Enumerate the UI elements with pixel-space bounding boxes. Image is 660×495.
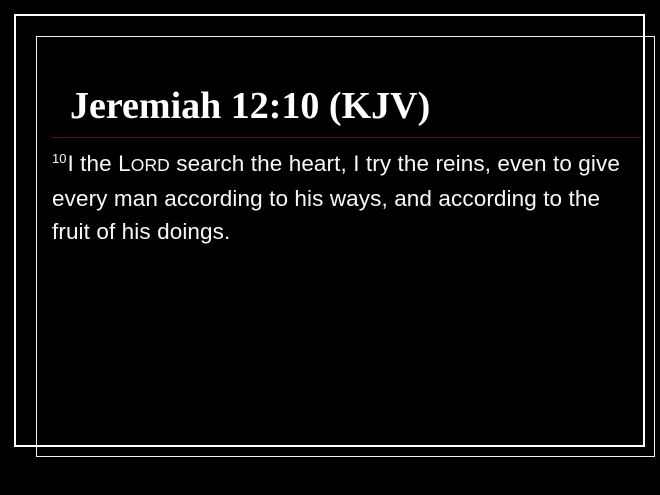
divine-name-lord: Lord [118, 151, 170, 176]
slide-canvas: Jeremiah 12:10 (KJV) 10I the Lord search… [0, 0, 660, 495]
slide-frame-outer-border: Jeremiah 12:10 (KJV) 10I the Lord search… [14, 14, 645, 447]
divine-name-smallcaps: ord [131, 155, 170, 175]
slide-content-area: Jeremiah 12:10 (KJV) 10I the Lord search… [37, 37, 654, 456]
verse-number: 10 [52, 151, 66, 166]
body-placeholder: 10I the Lord search the heart, I try the… [52, 147, 642, 248]
empty-body-region [52, 262, 642, 442]
verse-text: 10I the Lord search the heart, I try the… [52, 147, 642, 248]
verse-text-before-divine-name: I the [67, 151, 118, 176]
slide-title: Jeremiah 12:10 (KJV) [70, 85, 430, 127]
title-placeholder: Jeremiah 12:10 (KJV) [37, 37, 654, 137]
title-divider-rule [52, 137, 641, 138]
divine-name-capital: L [118, 151, 131, 176]
